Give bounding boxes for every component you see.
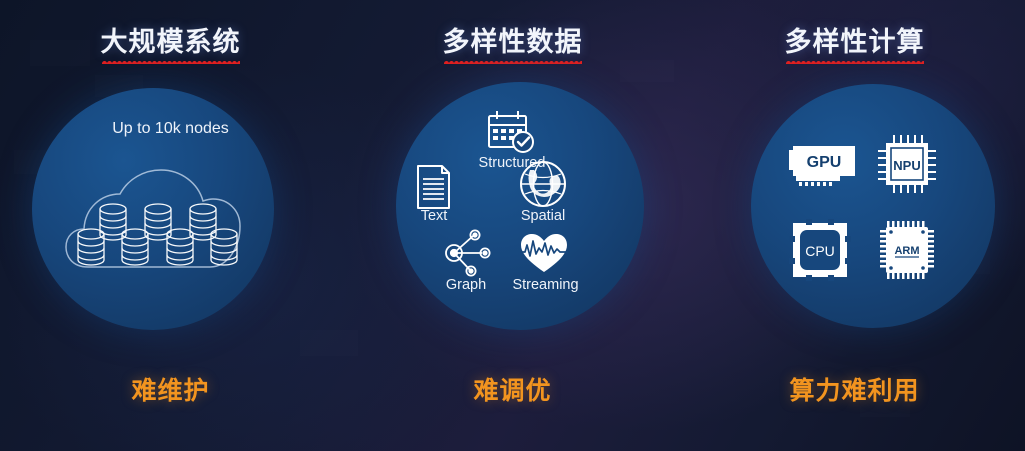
panel-diverse-computing: 多样性计算 GPU <box>684 0 1025 451</box>
icon-label-streaming: Streaming <box>498 277 593 293</box>
svg-text:GPU: GPU <box>807 154 842 171</box>
column-title-diverse-data: 多样性数据 <box>342 20 683 64</box>
arm-chip-icon: ARM <box>878 219 938 281</box>
column-caption-large-scale: 难维护 <box>0 371 341 407</box>
icon-label-text: Text <box>394 208 474 224</box>
nodes-capacity-label: Up to 10k nodes <box>0 120 341 138</box>
svg-text:CPU: CPU <box>805 243 835 259</box>
npu-chip-icon: NPU <box>876 133 938 195</box>
calendar-check-icon <box>484 108 538 156</box>
column-caption-diverse-data: 难调优 <box>342 371 683 407</box>
column-title-text: 多样性计算 <box>785 20 925 64</box>
gpu-card-icon: GPU <box>787 140 861 192</box>
column-title-text: 大规模系统 <box>101 20 241 64</box>
cpu-chip-icon: CPU <box>789 219 851 281</box>
column-title-text: 多样性数据 <box>443 20 583 64</box>
column-caption-diverse-computing: 算力难利用 <box>684 371 1025 407</box>
document-icon <box>414 163 454 211</box>
network-graph-icon <box>438 228 494 278</box>
cloud-databases-icon <box>62 163 244 278</box>
panel-diverse-data: 多样性数据 Structu <box>342 0 683 451</box>
column-title-diverse-computing: 多样性计算 <box>684 20 1025 64</box>
heart-pulse-icon <box>518 232 570 276</box>
slide-canvas: 大规模系统 Up to 10k nodes <box>0 0 1025 451</box>
column-title-large-scale-systems: 大规模系统 <box>0 20 341 64</box>
icon-label-graph: Graph <box>426 277 506 293</box>
panel-large-scale-systems: 大规模系统 Up to 10k nodes <box>0 0 341 451</box>
circle-backdrop-diverse-computing <box>751 84 995 328</box>
icon-label-spatial: Spatial <box>503 208 583 224</box>
svg-text:ARM: ARM <box>894 245 919 257</box>
globe-icon <box>517 158 569 210</box>
svg-text:NPU: NPU <box>893 158 920 173</box>
